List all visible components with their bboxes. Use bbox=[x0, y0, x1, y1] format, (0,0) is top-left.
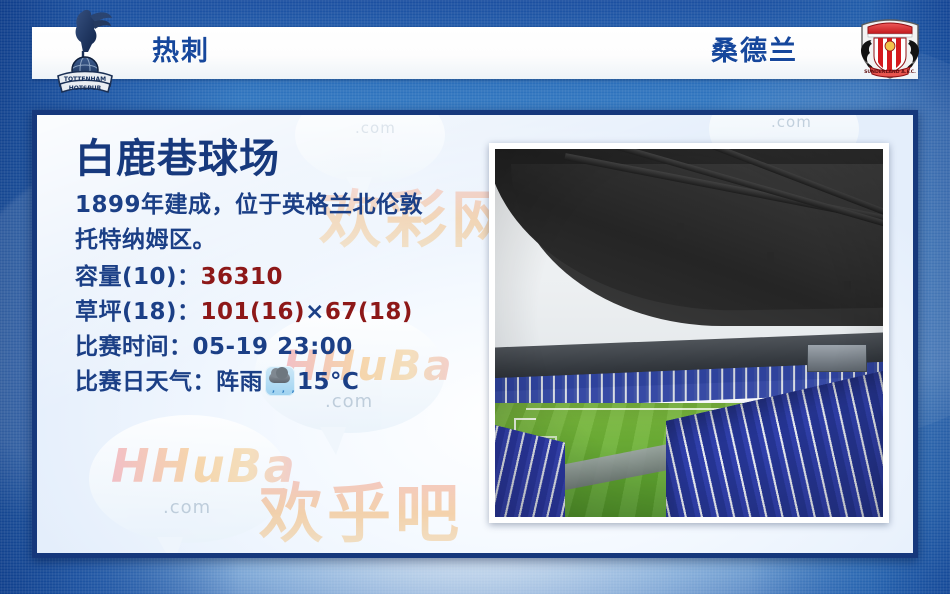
pitch-label: 草坪(18)： bbox=[75, 299, 201, 325]
watermark-dotcom-top: .com bbox=[355, 119, 396, 137]
stadium-info-card: .com .com HHuBa .com HHuBa .com 欢彩网 欢乎吧 … bbox=[32, 110, 918, 558]
sunderland-afc-crest-icon: SUNDERLAND A.F.C. bbox=[854, 18, 926, 80]
match-weather-label: 比赛日天气： bbox=[75, 369, 216, 395]
svg-text:SUNDERLAND A.F.C.: SUNDERLAND A.F.C. bbox=[864, 69, 916, 75]
match-header-bar: 热刺 桑德兰 bbox=[32, 27, 918, 79]
svg-text:HOTSPUR: HOTSPUR bbox=[69, 85, 102, 92]
match-weather-row: 比赛日天气：阵雨, , ,15°C bbox=[75, 365, 505, 400]
tottenham-hotspur-crest-icon: TOTTENHAM HOTSPUR bbox=[52, 8, 118, 94]
match-time-label: 比赛时间： bbox=[75, 334, 193, 360]
watermark-dotcom-right: .com bbox=[771, 113, 812, 131]
match-stadium-info-page: 热刺 桑德兰 bbox=[0, 0, 950, 594]
watermark-brand-left: HHuBa bbox=[111, 439, 297, 493]
capacity-value: 36310 bbox=[201, 264, 284, 290]
stadium-info-column: 白鹿巷球场 1899年建成，位于英格兰北伦敦 托特纳姆区。 容量(10)：363… bbox=[75, 137, 505, 400]
match-weather-value: 阵雨 bbox=[216, 369, 263, 395]
away-team-name: 桑德兰 bbox=[711, 27, 798, 79]
home-team-name: 热刺 bbox=[152, 27, 210, 79]
pitch-length-value: 101(16) bbox=[201, 299, 306, 325]
pitch-row: 草坪(18)：101(16)×67(18) bbox=[75, 295, 505, 330]
svg-text:TOTTENHAM: TOTTENHAM bbox=[64, 76, 106, 83]
watermark-dotcom-left: .com bbox=[163, 497, 211, 518]
stadium-description-line-1: 1899年建成，位于英格兰北伦敦 bbox=[75, 189, 505, 222]
capacity-row: 容量(10)：36310 bbox=[75, 260, 505, 295]
match-time-value: 05-19 23:00 bbox=[193, 334, 353, 360]
stadium-description-line-2: 托特纳姆区。 bbox=[75, 224, 505, 257]
match-temperature: 15°C bbox=[297, 369, 359, 395]
stadium-photo bbox=[495, 149, 883, 517]
capacity-label: 容量(10)： bbox=[75, 264, 201, 290]
watermark-bubble-left bbox=[89, 415, 289, 543]
rain-shower-icon: , , , bbox=[265, 366, 295, 396]
match-time-row: 比赛时间：05-19 23:00 bbox=[75, 330, 505, 365]
stadium-photo-frame bbox=[489, 143, 889, 523]
watermark-brand-cn-bottom: 欢乎吧 bbox=[259, 463, 463, 555]
stadium-title: 白鹿巷球场 bbox=[75, 137, 505, 181]
photo-grain bbox=[495, 149, 883, 517]
pitch-width-value: 67(18) bbox=[325, 299, 413, 325]
pitch-multiply-sign: × bbox=[305, 299, 325, 325]
